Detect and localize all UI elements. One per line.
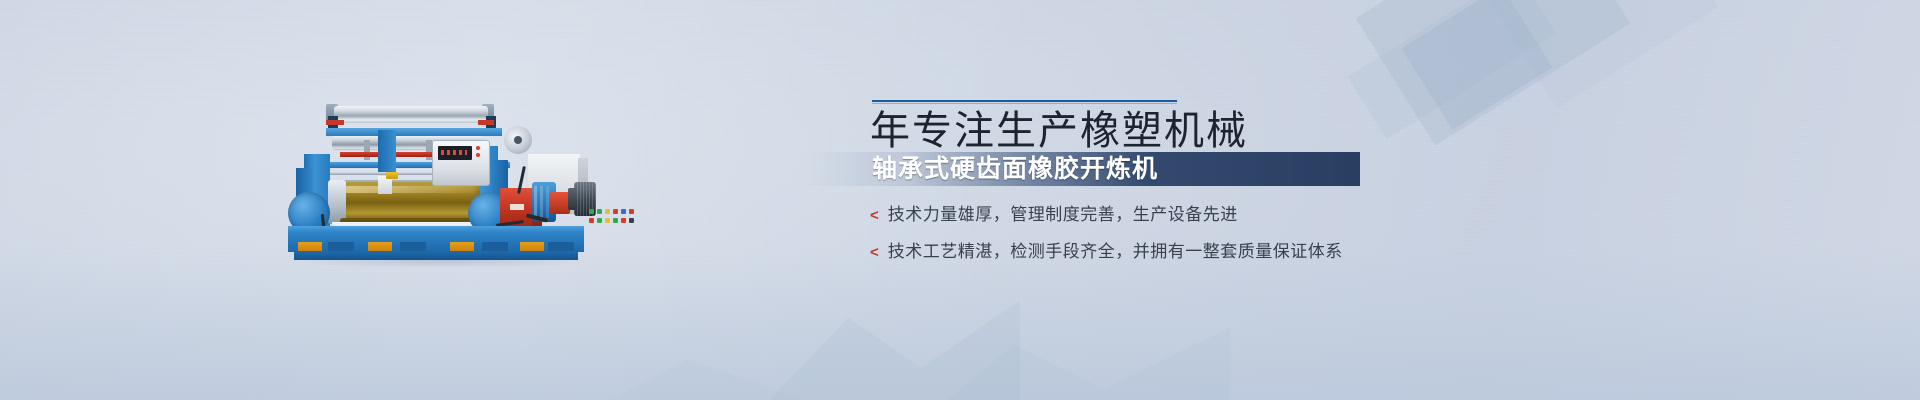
- feature-text: 技术力量雄厚，管理制度完善，生产设备先进: [888, 200, 1238, 225]
- subtitle-bar: 轴承式硬齿面橡胶开炼机: [808, 152, 1360, 186]
- control-button-row-top: [589, 209, 635, 215]
- title-divider-underline: [872, 103, 1177, 104]
- button-yellow-2: [605, 218, 610, 223]
- page-title: 年专注生产橡塑机械: [870, 108, 1390, 155]
- feature-list: < 技术力量雄厚，管理制度完善，生产设备先进 < 技术工艺精湛，检测手段齐全，并…: [870, 200, 1490, 274]
- button-red-4: [621, 218, 626, 223]
- feature-item: < 技术工艺精湛，检测手段齐全，并拥有一整套质量保证体系: [870, 237, 1490, 262]
- yellow-safety-cap: [386, 172, 398, 179]
- bullet-marker-icon: <: [870, 244, 879, 261]
- button-yellow-1: [605, 209, 610, 214]
- machine-base-skid: [294, 251, 578, 260]
- guard-louver-2: [540, 186, 543, 218]
- button-green-2: [597, 209, 602, 214]
- guard-louver-1: [534, 186, 537, 218]
- red-accent-left: [326, 120, 344, 125]
- button-red-1: [613, 209, 618, 214]
- button-green-4: [613, 218, 618, 223]
- subtitle-text: 轴承式硬齿面橡胶开炼机: [872, 152, 1360, 186]
- feature-item: < 技术力量雄厚，管理制度完善，生产设备先进: [870, 200, 1490, 225]
- flywheel-hub: [514, 136, 522, 144]
- center-post: [378, 130, 396, 172]
- promo-banner: 年专注生产橡塑机械 轴承式硬齿面橡胶开炼机 < 技术力量雄厚，管理制度完善，生产…: [0, 0, 1920, 400]
- drive-coupling: [550, 192, 570, 214]
- product-image-rubber-mixing-mill: [282, 96, 600, 264]
- tie-rod-left: [364, 140, 370, 160]
- gearbox-nameplate: [510, 204, 524, 210]
- red-accent-right: [478, 120, 494, 125]
- indicator-led-1: [476, 146, 480, 150]
- button-green-1: [589, 209, 594, 214]
- button-blue-1: [621, 209, 626, 214]
- indicator-led-2: [476, 153, 480, 157]
- control-button-row-bottom: [589, 218, 635, 224]
- button-green-3: [597, 218, 602, 223]
- roller-highlight: [344, 186, 476, 193]
- button-red-2: [629, 209, 634, 214]
- top-chrome-roller: [334, 106, 488, 123]
- button-black-1: [629, 218, 634, 223]
- button-red-3: [589, 218, 594, 223]
- guard-louver-3: [546, 186, 549, 218]
- title-divider-line: [872, 100, 1177, 102]
- upper-cross-beam: [326, 128, 502, 136]
- feature-text: 技术工艺精湛，检测手段齐全，并拥有一整套质量保证体系: [888, 237, 1343, 262]
- bullet-marker-icon: <: [870, 207, 879, 224]
- motor-terminal-box: [568, 188, 576, 210]
- display-readout: [441, 150, 467, 155]
